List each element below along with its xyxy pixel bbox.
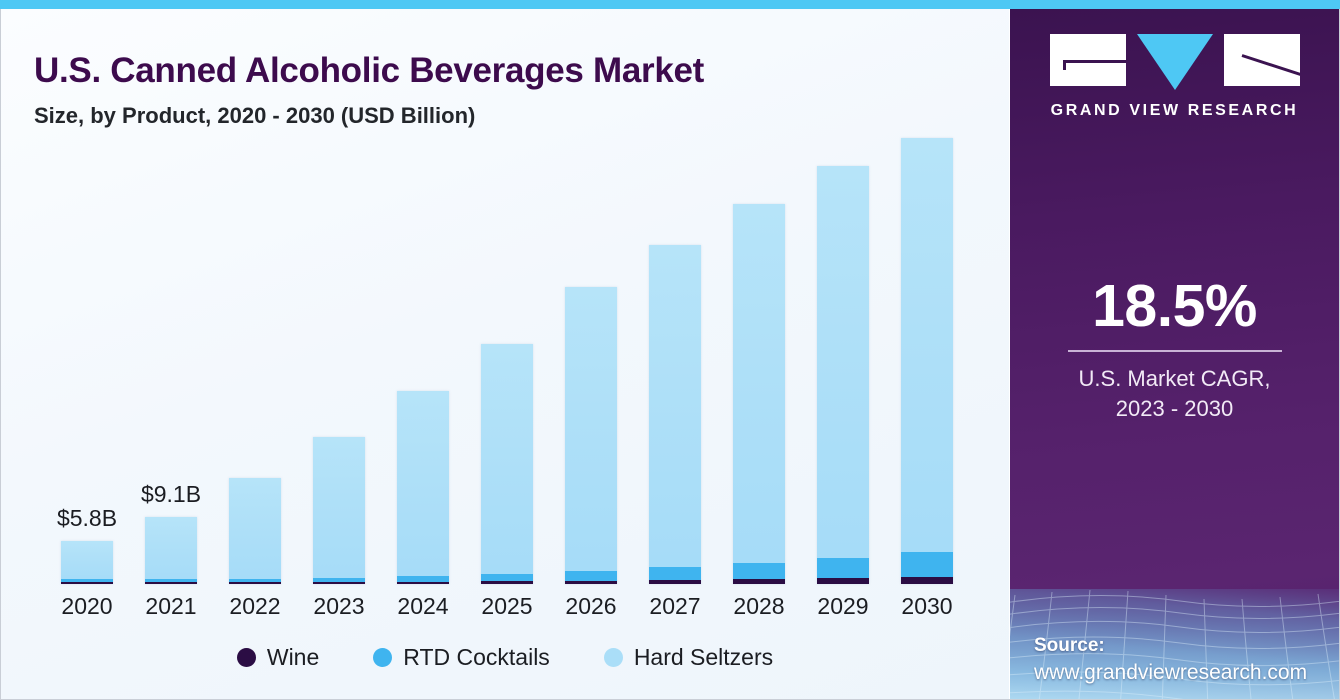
infographic-frame: U.S. Canned Alcoholic Beverages Market S… bbox=[0, 0, 1340, 700]
bar-segment-wine bbox=[61, 582, 113, 584]
bar-segment-rtd-cocktails bbox=[481, 574, 533, 581]
x-axis-tick-2024: 2024 bbox=[397, 593, 449, 620]
bar-segment-rtd-cocktails bbox=[817, 558, 869, 578]
bar-group bbox=[649, 245, 701, 584]
bar-2028[interactable] bbox=[733, 204, 785, 584]
x-axis-tick-2030: 2030 bbox=[901, 593, 953, 620]
legend-swatch-icon bbox=[604, 648, 623, 667]
bar-segment-wine bbox=[145, 582, 197, 584]
bar-segment-wine bbox=[901, 577, 953, 584]
bar-group bbox=[817, 166, 869, 584]
x-axis-tick-2022: 2022 bbox=[229, 593, 281, 620]
bar-group: $5.8B bbox=[61, 541, 113, 584]
x-axis-tick-2028: 2028 bbox=[733, 593, 785, 620]
logo-letter-g-icon bbox=[1050, 34, 1126, 86]
bar-segment-wine bbox=[397, 582, 449, 585]
legend-label: RTD Cocktails bbox=[403, 644, 550, 671]
bar-segment-wine bbox=[817, 578, 869, 584]
x-axis-tick-2025: 2025 bbox=[481, 593, 533, 620]
bar-segment-hard-seltzers bbox=[649, 245, 701, 567]
bar-segment-hard-seltzers bbox=[229, 478, 281, 580]
bar-2029[interactable] bbox=[817, 166, 869, 584]
bar-segment-wine bbox=[481, 581, 533, 584]
bar-segment-wine bbox=[733, 579, 785, 584]
bar-segment-hard-seltzers bbox=[397, 391, 449, 577]
bar-2022[interactable] bbox=[229, 478, 281, 584]
bar-segment-hard-seltzers bbox=[733, 204, 785, 563]
bar-2023[interactable] bbox=[313, 437, 365, 584]
bar-2026[interactable] bbox=[565, 287, 617, 585]
logo-triangle-v-icon bbox=[1137, 34, 1213, 90]
bar-group bbox=[229, 478, 281, 584]
bar-segment-rtd-cocktails bbox=[733, 563, 785, 579]
cagr-divider bbox=[1068, 350, 1282, 352]
bar-value-label: $9.1B bbox=[141, 481, 201, 508]
bar-segment-hard-seltzers bbox=[145, 517, 197, 580]
bar-2024[interactable] bbox=[397, 391, 449, 584]
source-block: Source: www.grandviewresearch.com bbox=[1034, 635, 1307, 685]
cagr-stat-block: 18.5% U.S. Market CAGR, 2023 - 2030 bbox=[1010, 277, 1339, 423]
x-axis-tick-2023: 2023 bbox=[313, 593, 365, 620]
bar-segment-rtd-cocktails bbox=[649, 567, 701, 580]
logo-wordmark: GRAND VIEW RESEARCH bbox=[1051, 102, 1299, 120]
logo-letter-r-icon bbox=[1224, 34, 1300, 86]
cagr-value: 18.5% bbox=[1010, 277, 1339, 336]
source-url[interactable]: www.grandviewresearch.com bbox=[1034, 661, 1307, 685]
brand-side-panel: GRAND VIEW RESEARCH 18.5% U.S. Market CA… bbox=[1010, 9, 1339, 699]
source-label: Source: bbox=[1034, 635, 1307, 657]
cagr-caption-line2: 2023 - 2030 bbox=[1010, 394, 1339, 424]
chart-legend: WineRTD CocktailsHard Seltzers bbox=[1, 644, 1009, 671]
top-accent-bar bbox=[0, 0, 1340, 9]
legend-swatch-icon bbox=[373, 648, 392, 667]
x-axis-tick-2027: 2027 bbox=[649, 593, 701, 620]
x-axis-tick-2020: 2020 bbox=[61, 593, 113, 620]
bar-2030[interactable] bbox=[901, 138, 953, 584]
bar-segment-hard-seltzers bbox=[817, 166, 869, 558]
legend-item-hard-seltzers[interactable]: Hard Seltzers bbox=[604, 644, 773, 671]
bar-segment-hard-seltzers bbox=[61, 541, 113, 579]
bar-segment-rtd-cocktails bbox=[565, 571, 617, 581]
bar-segment-wine bbox=[229, 582, 281, 584]
bar-segment-hard-seltzers bbox=[481, 344, 533, 574]
bar-group bbox=[733, 204, 785, 584]
bar-group: $9.1B bbox=[145, 517, 197, 584]
legend-label: Wine bbox=[267, 644, 319, 671]
x-axis-tick-2021: 2021 bbox=[145, 593, 197, 620]
chart-panel: U.S. Canned Alcoholic Beverages Market S… bbox=[1, 9, 1009, 699]
bar-chart-plot-area: $5.8B2020$9.1B20212022202320242025202620… bbox=[1, 9, 1009, 699]
bar-segment-rtd-cocktails bbox=[901, 552, 953, 577]
bar-group bbox=[565, 287, 617, 585]
bar-segment-hard-seltzers bbox=[901, 138, 953, 552]
bar-segment-wine bbox=[565, 581, 617, 584]
gvr-logo: GRAND VIEW RESEARCH bbox=[1010, 34, 1339, 120]
bar-2025[interactable] bbox=[481, 344, 533, 584]
bar-segment-hard-seltzers bbox=[565, 287, 617, 572]
bar-2020[interactable]: $5.8B bbox=[61, 541, 113, 584]
footer-mesh-graphic: Source: www.grandviewresearch.com bbox=[1010, 589, 1339, 699]
bar-2021[interactable]: $9.1B bbox=[145, 517, 197, 584]
bar-2027[interactable] bbox=[649, 245, 701, 584]
bar-group bbox=[901, 138, 953, 584]
bar-group bbox=[313, 437, 365, 584]
legend-swatch-icon bbox=[237, 648, 256, 667]
logo-marks bbox=[1050, 34, 1300, 88]
cagr-caption-line1: U.S. Market CAGR, bbox=[1010, 364, 1339, 394]
bar-segment-wine bbox=[313, 582, 365, 584]
bar-value-label: $5.8B bbox=[57, 505, 117, 532]
x-axis-tick-2026: 2026 bbox=[565, 593, 617, 620]
legend-item-wine[interactable]: Wine bbox=[237, 644, 319, 671]
bar-segment-wine bbox=[649, 580, 701, 584]
bar-segment-hard-seltzers bbox=[313, 437, 365, 579]
legend-label: Hard Seltzers bbox=[634, 644, 773, 671]
bar-group bbox=[397, 391, 449, 584]
legend-item-rtd-cocktails[interactable]: RTD Cocktails bbox=[373, 644, 550, 671]
bar-group bbox=[481, 344, 533, 584]
x-axis-tick-2029: 2029 bbox=[817, 593, 869, 620]
